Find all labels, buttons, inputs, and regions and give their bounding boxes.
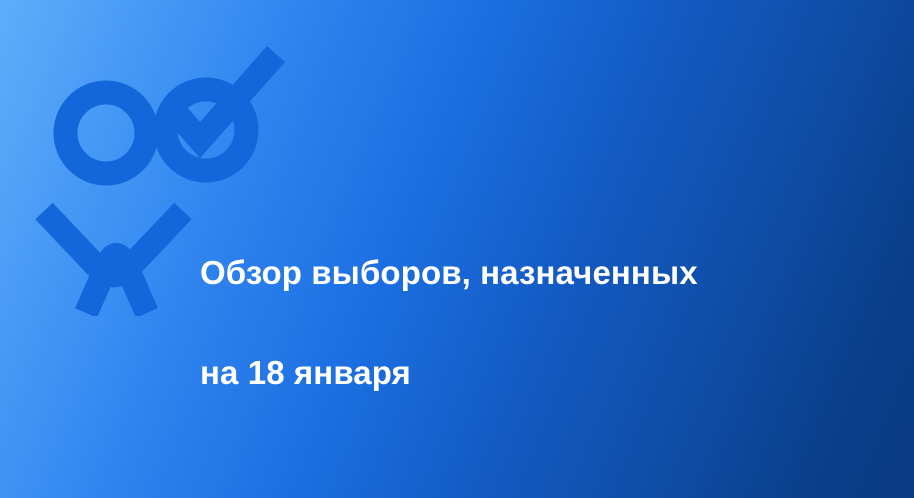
headline-line-2: на 18 января (200, 348, 840, 398)
headline-line-1: Обзор выборов, назначенных (200, 248, 840, 298)
banner-headline: Обзор выборов, назначенных на 18 января (200, 198, 840, 448)
head-ring-icon (66, 93, 147, 174)
election-overview-banner: Обзор выборов, назначенных на 18 января (0, 0, 914, 498)
